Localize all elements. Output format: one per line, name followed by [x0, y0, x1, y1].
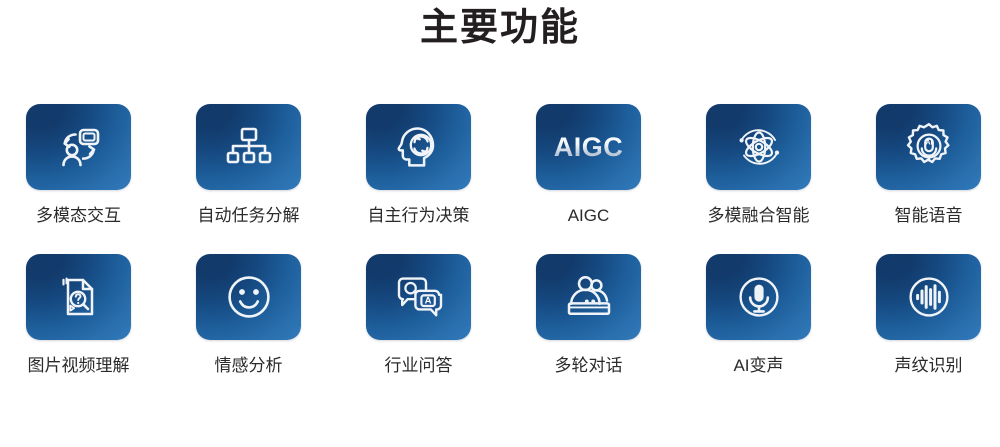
- person-screen-exchange-icon: [53, 121, 105, 173]
- microphone-circle-icon: [733, 271, 785, 323]
- feature-cell-multimodal-interaction[interactable]: 多模态交互: [26, 104, 131, 227]
- feature-tile[interactable]: [26, 254, 131, 340]
- feature-grid: 多模态交互: [26, 104, 977, 377]
- feature-tile[interactable]: AI: [876, 104, 981, 190]
- feature-label: 声纹识别: [895, 355, 963, 377]
- feature-cell-autonomous-decision[interactable]: 自主行为决策: [366, 104, 471, 227]
- feature-tile[interactable]: [196, 104, 301, 190]
- feature-row-1: 多模态交互: [26, 104, 977, 227]
- page-title: 主要功能: [0, 2, 1000, 54]
- feature-tile[interactable]: A: [366, 254, 471, 340]
- people-panel-table-icon: [561, 273, 617, 321]
- feature-tile[interactable]: [876, 254, 981, 340]
- svg-text:AI: AI: [925, 140, 932, 147]
- feature-cell-multi-turn-dialogue[interactable]: 多轮对话: [536, 254, 641, 377]
- feature-cell-sentiment-analysis[interactable]: 情感分析: [196, 254, 301, 377]
- feature-label: 多模融合智能: [708, 205, 810, 227]
- atom-orbit-icon: [732, 120, 786, 174]
- feature-cell-task-decomposition[interactable]: 自动任务分解: [196, 104, 301, 227]
- feature-label: 图片视频理解: [28, 355, 130, 377]
- feature-cell-industry-qa[interactable]: A 行业问答: [366, 254, 471, 377]
- feature-row-2: 图片视频理解 情感分析: [26, 254, 977, 377]
- feature-tile[interactable]: [366, 104, 471, 190]
- feature-label: 行业问答: [385, 355, 453, 377]
- feature-label: 智能语音: [895, 205, 963, 227]
- gear-microphone-ai-icon: AI: [902, 120, 956, 174]
- qa-speech-bubbles-icon: A: [393, 272, 445, 322]
- feature-label: 自动任务分解: [198, 205, 300, 227]
- feature-tile[interactable]: [706, 254, 811, 340]
- feature-cell-voiceprint-recognition[interactable]: 声纹识别: [876, 254, 981, 377]
- feature-label: 自主行为决策: [368, 205, 470, 227]
- voiceprint-waveform-circle-icon: [903, 271, 955, 323]
- feature-cell-smart-voice[interactable]: AI 智能语音: [876, 104, 981, 227]
- org-chart-hierarchy-icon: [224, 122, 274, 172]
- feature-overview-page: 主要功能: [0, 0, 1000, 447]
- feature-label: 多轮对话: [555, 355, 623, 377]
- head-refresh-cycle-icon: [393, 121, 445, 173]
- feature-label: AI变声: [733, 355, 783, 377]
- feature-tile[interactable]: [536, 254, 641, 340]
- feature-cell-multimodal-fusion[interactable]: 多模融合智能: [706, 104, 811, 227]
- document-magnifier-question-icon: [54, 272, 104, 322]
- smiley-face-icon: [223, 271, 275, 323]
- feature-tile[interactable]: [196, 254, 301, 340]
- aigc-wordmark-icon: AIGC: [554, 132, 624, 163]
- feature-tile[interactable]: [706, 104, 811, 190]
- feature-label: AIGC: [568, 205, 610, 227]
- feature-tile[interactable]: AIGC: [536, 104, 641, 190]
- feature-cell-image-video-understanding[interactable]: 图片视频理解: [26, 254, 131, 377]
- feature-cell-ai-voice-changer[interactable]: AI变声: [706, 254, 811, 377]
- feature-cell-aigc[interactable]: AIGC AIGC: [536, 104, 641, 227]
- svg-text:A: A: [424, 296, 431, 307]
- feature-tile[interactable]: [26, 104, 131, 190]
- feature-label: 多模态交互: [36, 205, 121, 227]
- feature-label: 情感分析: [215, 355, 283, 377]
